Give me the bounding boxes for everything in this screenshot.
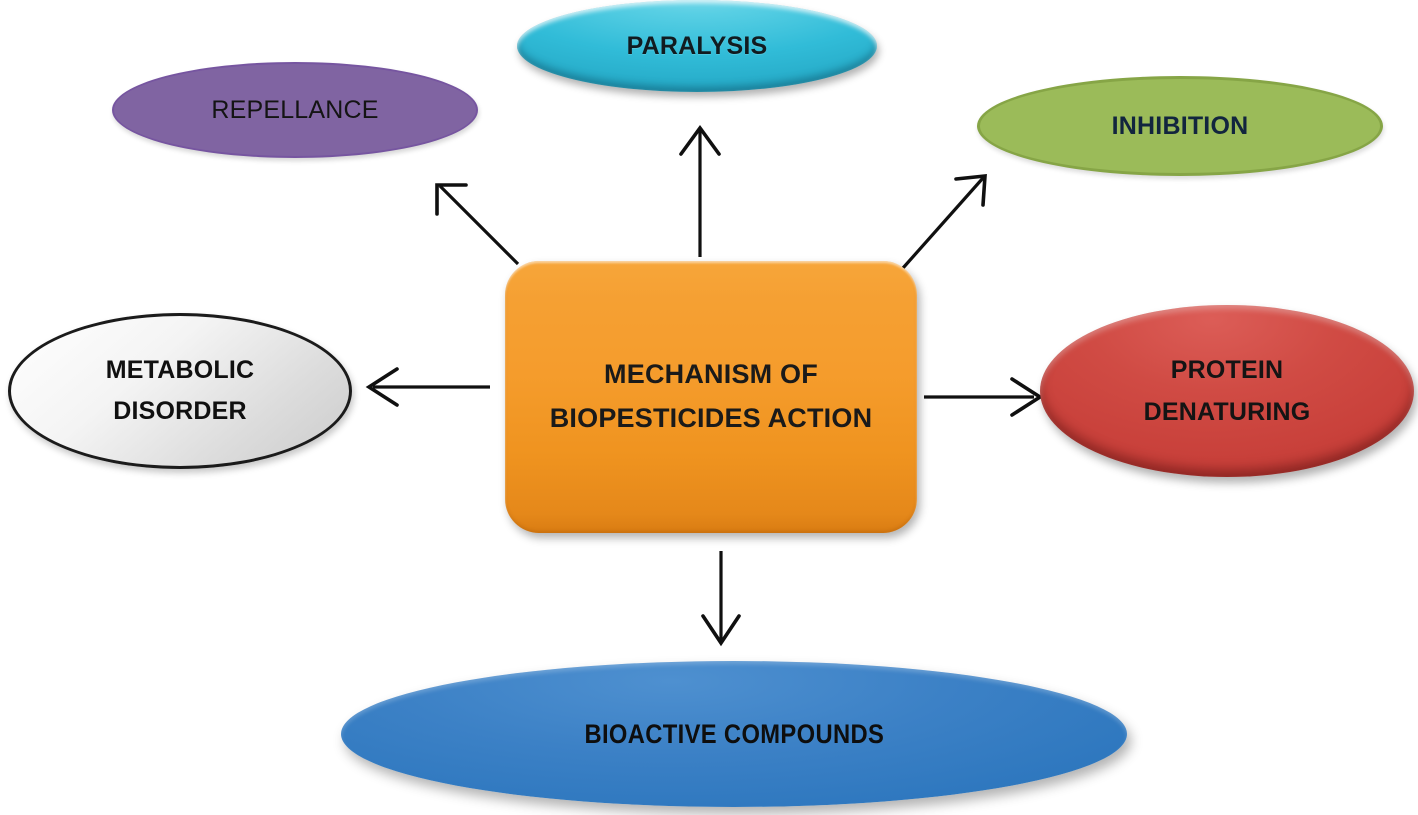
- node-inhibition[interactable]: INHIBITION: [977, 76, 1383, 176]
- node-inhibition-label: INHIBITION: [1112, 110, 1249, 142]
- center-node-mechanism-of-biopesticides-action[interactable]: MECHANISM OF BIOPESTICIDES ACTION: [505, 261, 917, 533]
- node-repellance-label: REPELLANCE: [211, 94, 378, 126]
- node-paralysis-label: PARALYSIS: [627, 30, 768, 62]
- node-protein-denaturing[interactable]: PROTEIN DENATURING: [1040, 305, 1414, 477]
- node-metabolic-disorder[interactable]: METABOLIC DISORDER: [8, 313, 352, 469]
- node-bioactive-compounds[interactable]: BIOACTIVE COMPOUNDS: [341, 661, 1127, 807]
- arrow-to-paralysis: [681, 128, 719, 257]
- node-paralysis[interactable]: PARALYSIS: [517, 0, 877, 92]
- arrow-to-metabolic: [369, 369, 490, 405]
- node-bioactive-compounds-label: BIOACTIVE COMPOUNDS: [584, 717, 884, 752]
- node-repellance[interactable]: REPELLANCE: [112, 62, 478, 158]
- diagram-canvas: MECHANISM OF BIOPESTICIDES ACTION PARALY…: [0, 0, 1418, 815]
- arrow-to-inhibition: [903, 176, 985, 268]
- node-protein-denaturing-label: PROTEIN DENATURING: [1144, 349, 1311, 434]
- arrow-to-repellance: [437, 185, 518, 264]
- arrow-to-bioactive: [703, 551, 739, 643]
- arrow-to-protein: [924, 379, 1040, 415]
- node-metabolic-disorder-label: METABOLIC DISORDER: [106, 350, 255, 433]
- center-node-label: MECHANISM OF BIOPESTICIDES ACTION: [550, 353, 873, 440]
